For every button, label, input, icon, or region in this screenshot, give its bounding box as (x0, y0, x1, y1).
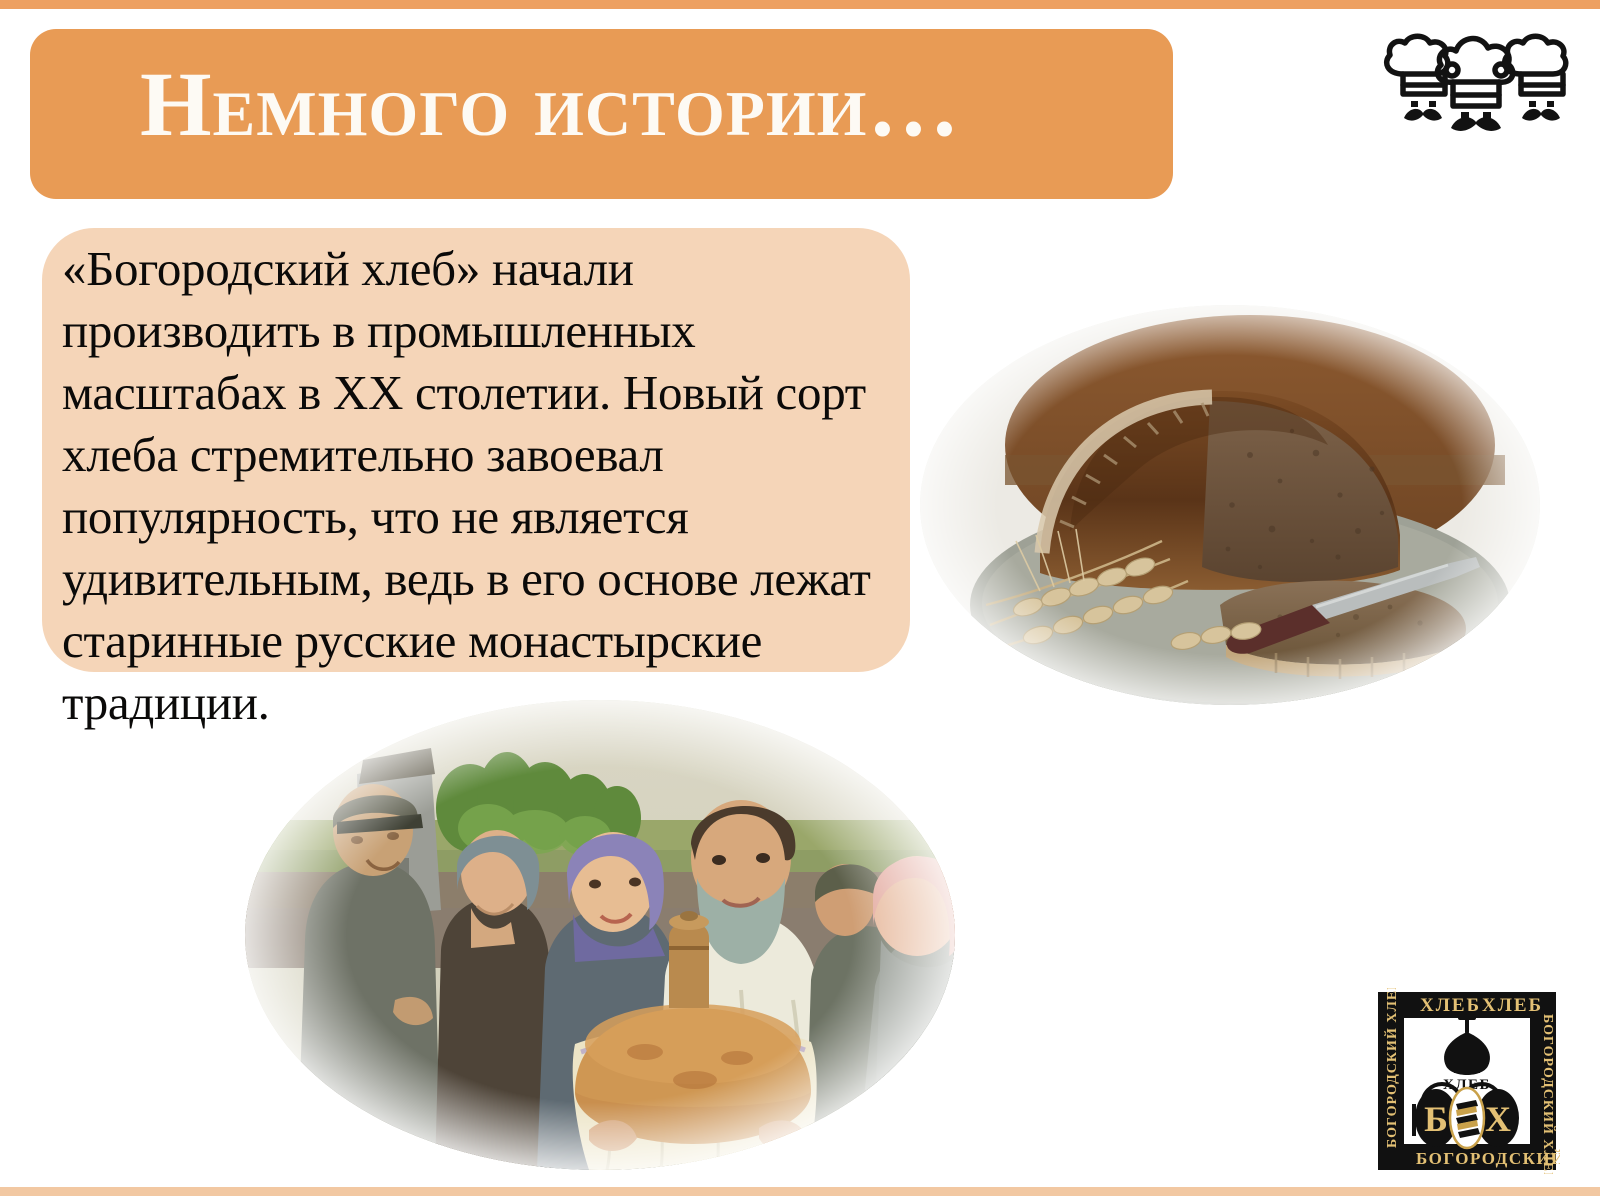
bottom-accent-rule (0, 1187, 1600, 1196)
rye-bread-photo (920, 305, 1540, 705)
page-title: Немного истории… (140, 52, 1140, 156)
chef-hats-icon (1377, 22, 1582, 134)
body-paragraph: «Богородский хлеб» начали производить в … (62, 238, 892, 734)
logo-word-left-side: БОГОРОДСКИЙ ХЛЕБ (1383, 988, 1400, 1148)
logo-monogram-b: Б (1424, 1099, 1448, 1139)
logo-word-top-right: ХЛЕБ (1482, 995, 1543, 1016)
logo-word-bottom: БОГОРОДСКИЙ (1416, 1149, 1560, 1168)
top-accent-rule (0, 0, 1600, 9)
bread-and-salt-painting (245, 700, 955, 1170)
bogorodsky-bread-logo: ХЛЕБ ХЛЕБ БОГОРОДСКИЙ БОГОРОДСКИЙ ХЛЕБ Б… (1374, 988, 1560, 1174)
slide-canvas: Немного истории… (0, 0, 1600, 1200)
logo-monogram-h: Х (1485, 1099, 1511, 1139)
logo-word-right-side: БОГОРОДСКИЙ ХЛЕБ (1540, 1014, 1557, 1174)
